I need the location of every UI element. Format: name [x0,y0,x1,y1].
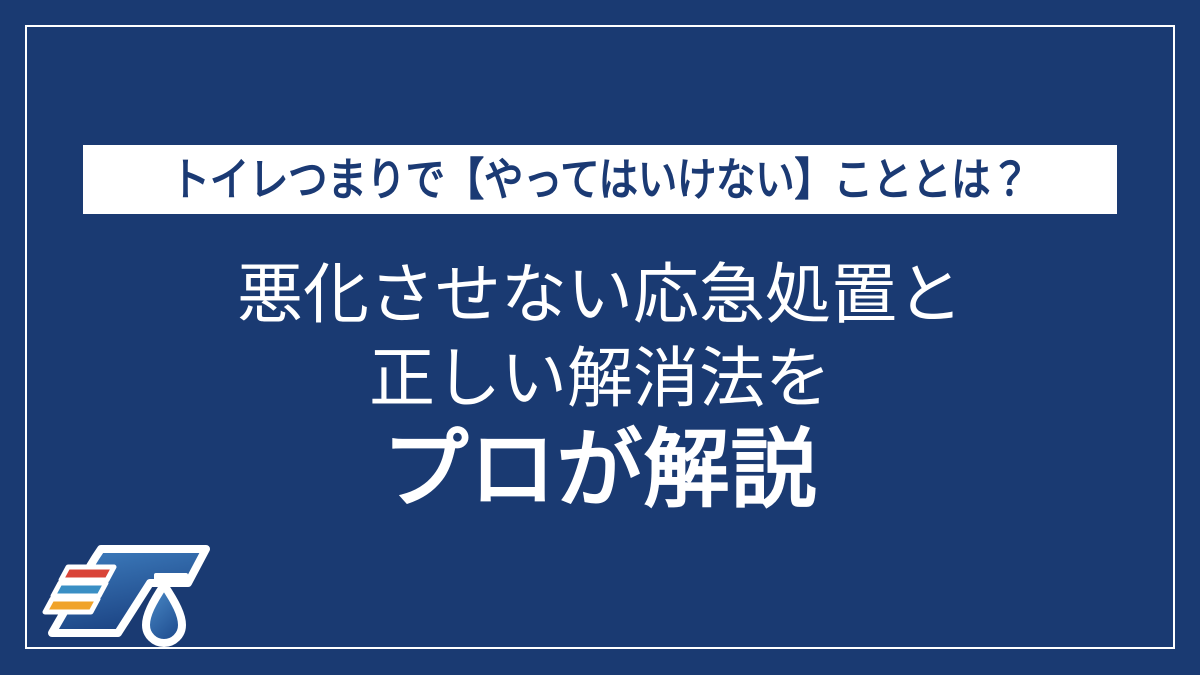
headline-line-1: 悪化させない応急処置と [0,252,1200,336]
water-drop-icon [146,585,182,643]
headline-line-3: プロが解説 [0,420,1200,520]
headline-banner: トイレつまりで【やってはいけない】こととは？ [83,145,1117,214]
spout-outlet [154,573,188,581]
main-headline: 悪化させない応急処置と 正しい解消法を プロが解説 [0,252,1200,520]
headline-line-2: 正しい解消法を [0,336,1200,420]
banner-text: トイレつまりで【やってはいけない】こととは？ [171,157,1030,202]
thumbnail-canvas: トイレつまりで【やってはいけない】こととは？ 悪化させない応急処置と 正しい解消… [0,0,1200,675]
brand-logo [38,537,218,652]
